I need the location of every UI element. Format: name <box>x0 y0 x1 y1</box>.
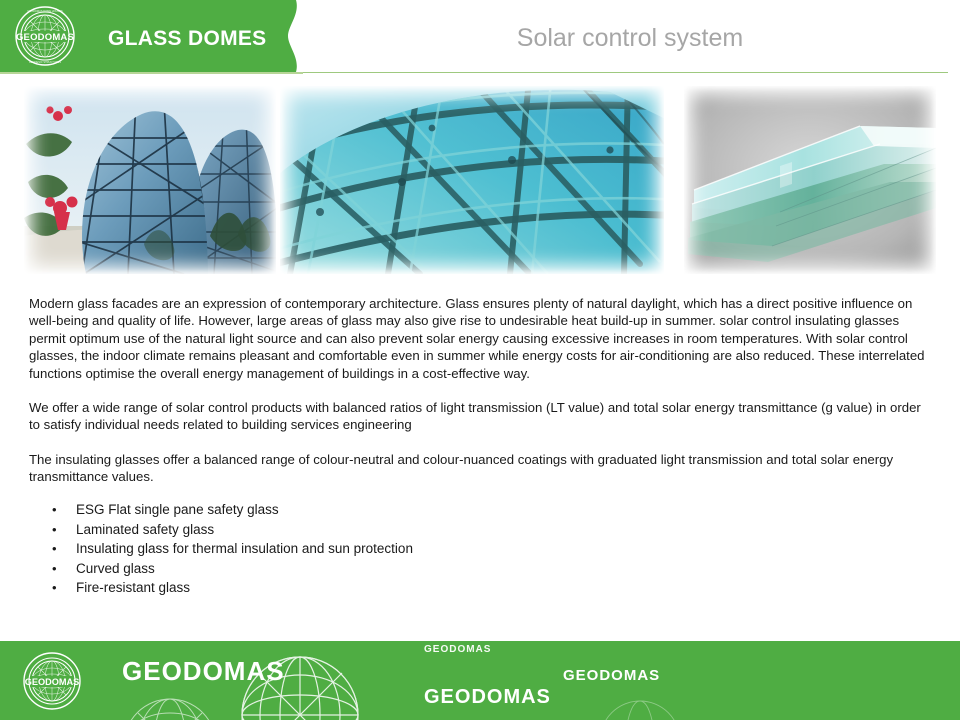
bullet-icon: • <box>52 578 57 598</box>
list-item: • Curved glass <box>48 559 748 579</box>
bullet-icon: • <box>52 500 57 520</box>
list-item-label: Laminated safety glass <box>76 522 214 537</box>
footer-wordmark-small: GEODOMAS <box>424 644 491 655</box>
product-bullet-list: • ESG Flat single pane safety glass • La… <box>48 500 748 598</box>
paragraph-1: Modern glass facades are an expression o… <box>29 295 929 382</box>
slide-root: GEODOMAS GEODOMAS DOME HOUSES GEODESIC S… <box>0 0 960 720</box>
footer-wordmark-large: GEODOMAS <box>122 656 285 687</box>
footer-wordmark-medium: GEODOMAS <box>424 686 551 709</box>
body-copy: Modern glass facades are an expression o… <box>29 295 929 503</box>
bullet-icon: • <box>52 539 57 559</box>
footer-seal-logo-text: GEODOMAS <box>25 677 80 687</box>
header-divider-left <box>0 72 303 74</box>
list-item-label: Fire-resistant glass <box>76 580 190 595</box>
photo-laminated-glass-edge <box>684 86 936 274</box>
footer-seal-logo: GEODOMAS <box>22 652 82 710</box>
list-item-label: Curved glass <box>76 561 155 576</box>
list-item: • ESG Flat single pane safety glass <box>48 500 748 520</box>
geodomas-seal-logo: GEODOMAS GEODOMAS DOME HOUSES GEODESIC S… <box>14 6 76 66</box>
bullet-icon: • <box>52 559 57 579</box>
svg-text:GEODESIC STRUCTURES: GEODESIC STRUCTURES <box>29 60 61 64</box>
list-item: • Fire-resistant glass <box>48 578 748 598</box>
page-title: Solar control system <box>330 24 930 53</box>
list-item: • Insulating glass for thermal insulatio… <box>48 539 748 559</box>
slide-header: GEODOMAS GEODOMAS DOME HOUSES GEODESIC S… <box>0 0 960 72</box>
photo-teal-glass-dome-framework <box>280 86 664 274</box>
list-item-label: Insulating glass for thermal insulation … <box>76 541 413 556</box>
photo-strip <box>0 86 960 276</box>
list-item-label: ESG Flat single pane safety glass <box>76 502 279 517</box>
paragraph-3: The insulating glasses offer a balanced … <box>29 451 929 486</box>
photo-geodesic-glass-dome-building <box>24 86 276 274</box>
list-item: • Laminated safety glass <box>48 520 748 540</box>
footer-wordmark-mid: GEODOMAS <box>563 667 660 684</box>
bullet-icon: • <box>52 520 57 540</box>
seal-logo-text: GEODOMAS <box>16 32 74 43</box>
brand-label: GLASS DOMES <box>108 27 266 51</box>
paragraph-2: We offer a wide range of solar control p… <box>29 399 929 434</box>
svg-text:GEODOMAS DOME HOUSES: GEODOMAS DOME HOUSES <box>27 9 63 13</box>
header-divider <box>303 72 948 73</box>
